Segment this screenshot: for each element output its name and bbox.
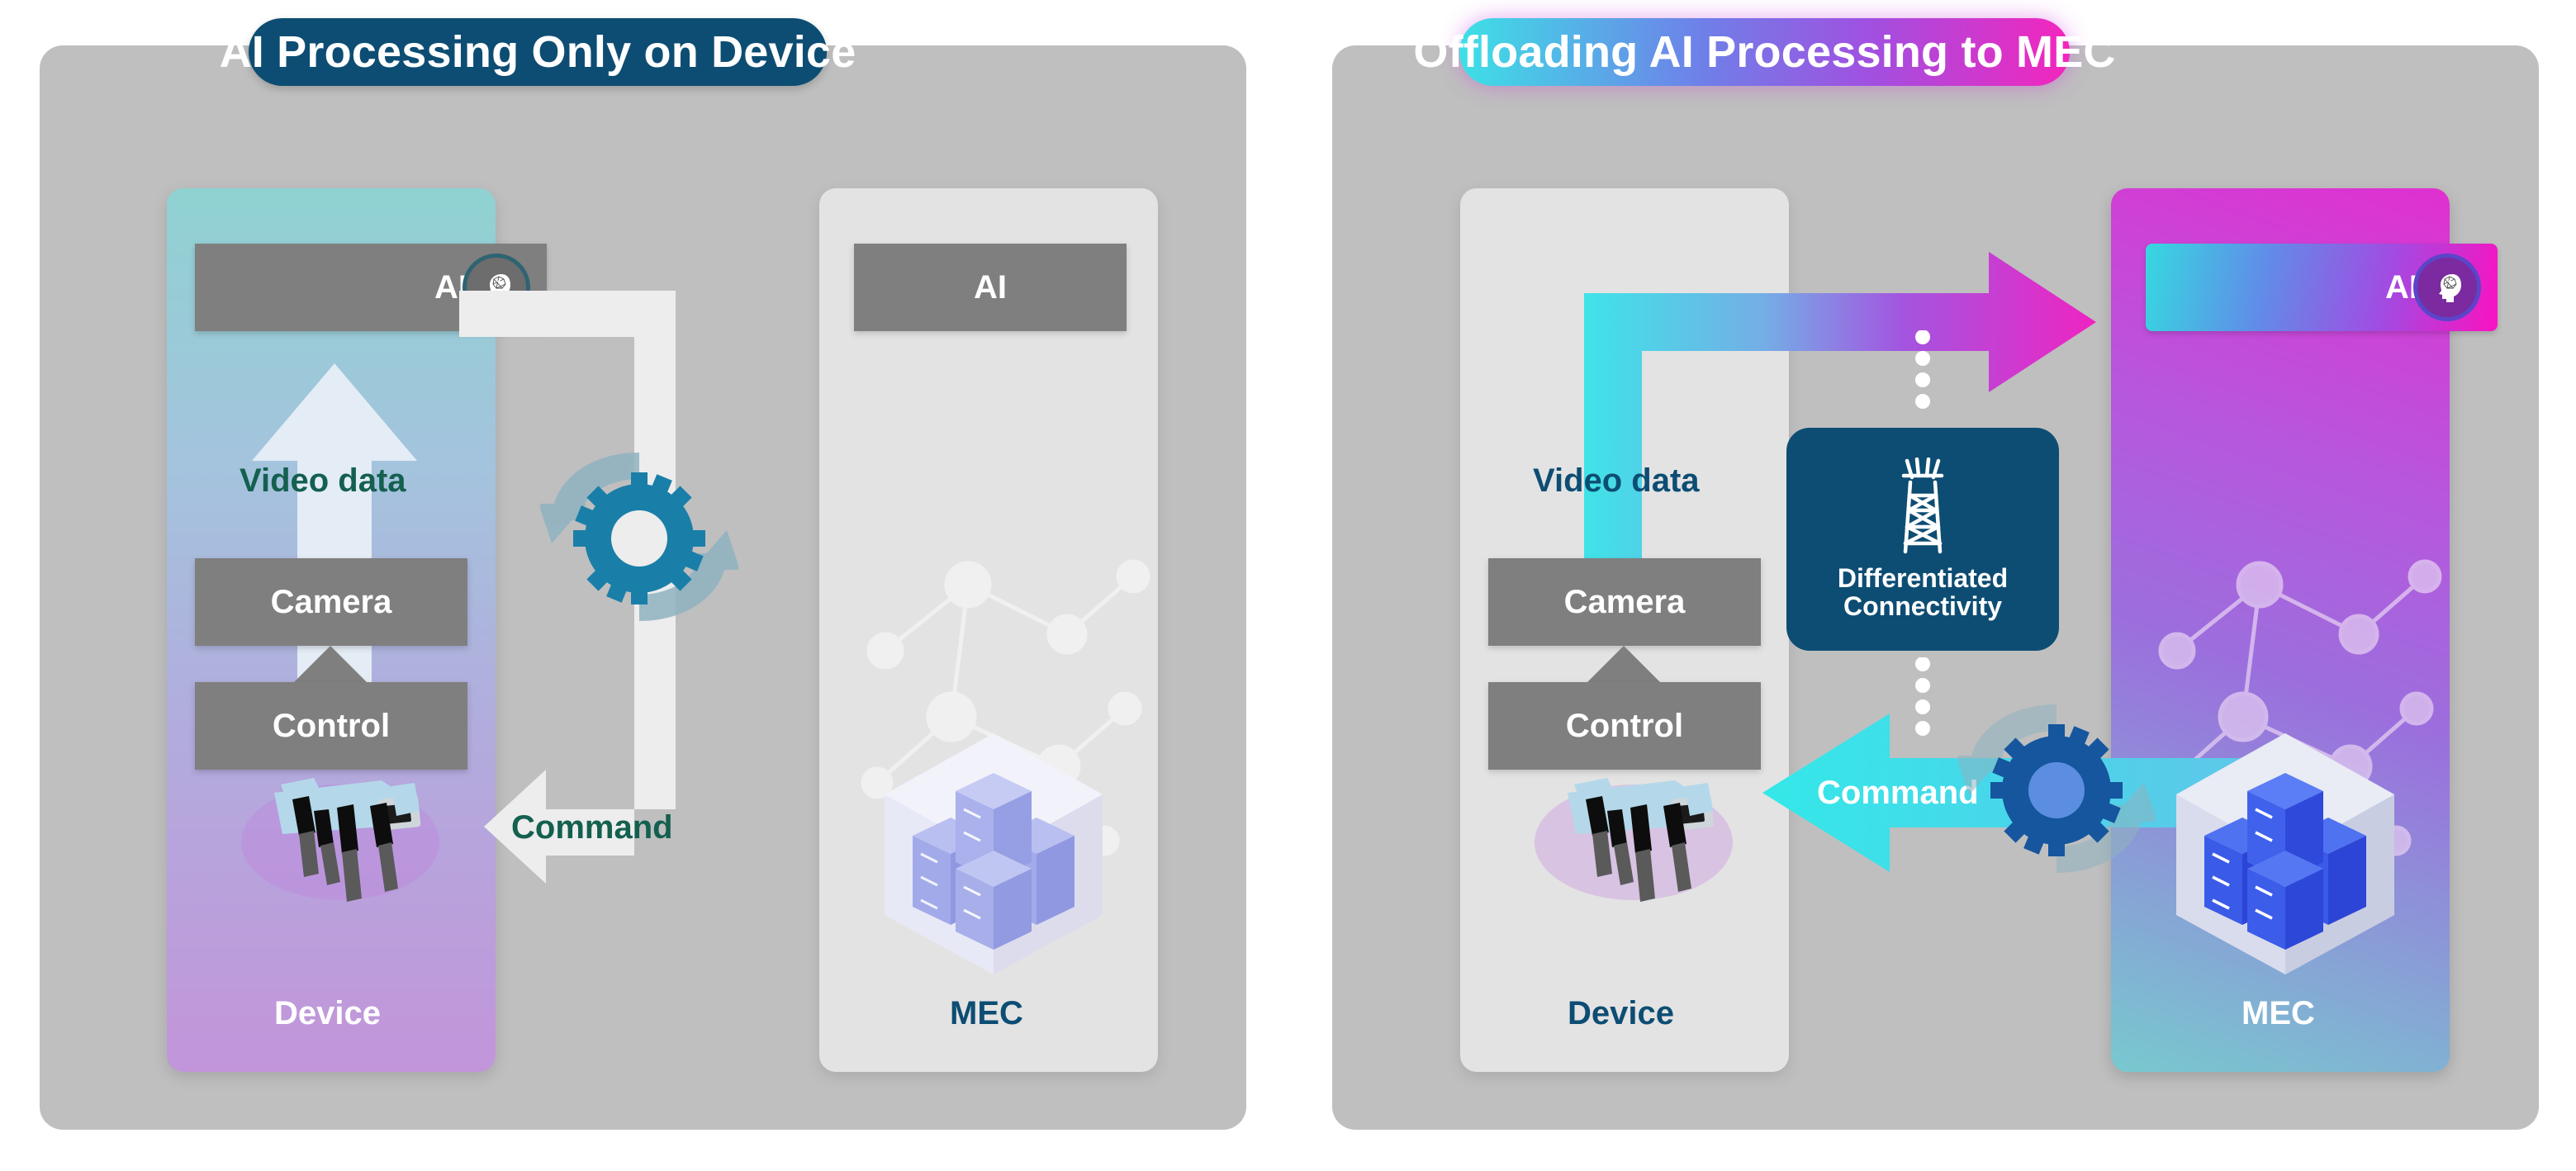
device-camera-block-right[interactable]: Camera xyxy=(1488,558,1761,646)
command-label-right: Command xyxy=(1817,775,1979,812)
camera-control-connector-right xyxy=(1584,646,1663,685)
diagram-canvas: AI Processing Only on Device AI Camera C… xyxy=(0,0,2576,1171)
mec-ai-block-left[interactable]: AI xyxy=(854,244,1127,331)
mec-label-right: MEC xyxy=(2242,995,2315,1032)
mec-ai-label-left: AI xyxy=(974,269,1007,306)
connectivity-label-line1: Differentiated xyxy=(1838,565,2008,593)
video-data-label-left: Video data xyxy=(240,462,406,500)
gear-refresh-icon-right xyxy=(1957,698,2156,888)
robot-dog-icon-left xyxy=(216,735,464,950)
brain-head-icon-right xyxy=(2413,254,2481,321)
mec-label-left: MEC xyxy=(950,995,1023,1032)
device-label-left: Device xyxy=(274,995,381,1032)
device-label-right: Device xyxy=(1568,995,1674,1032)
connectivity-dotted-line-top xyxy=(1913,330,1933,423)
title-ai-processing-only-on-device: AI Processing Only on Device xyxy=(249,18,827,86)
differentiated-connectivity-box[interactable]: Differentiated Connectivity xyxy=(1786,428,2059,651)
command-label-left: Command xyxy=(511,809,673,846)
mec-ai-block-right[interactable]: AI xyxy=(2146,244,2498,331)
device-camera-label-left: Camera xyxy=(271,584,392,621)
title-offloading-ai-processing-to-mec: Offloading AI Processing to MEC xyxy=(1459,18,2070,86)
robot-dog-icon-right xyxy=(1510,735,1758,950)
camera-control-connector-left xyxy=(291,646,370,685)
cell-tower-icon xyxy=(1887,457,1958,557)
video-data-label-right: Video data xyxy=(1533,462,1700,500)
device-camera-label-right: Camera xyxy=(1564,584,1686,621)
server-hexagon-icon-right xyxy=(2161,727,2409,974)
connectivity-label-line2: Connectivity xyxy=(1843,593,2002,621)
device-camera-block-left[interactable]: Camera xyxy=(195,558,467,646)
gear-refresh-icon-left xyxy=(540,446,738,636)
server-hexagon-icon-left xyxy=(870,727,1117,974)
